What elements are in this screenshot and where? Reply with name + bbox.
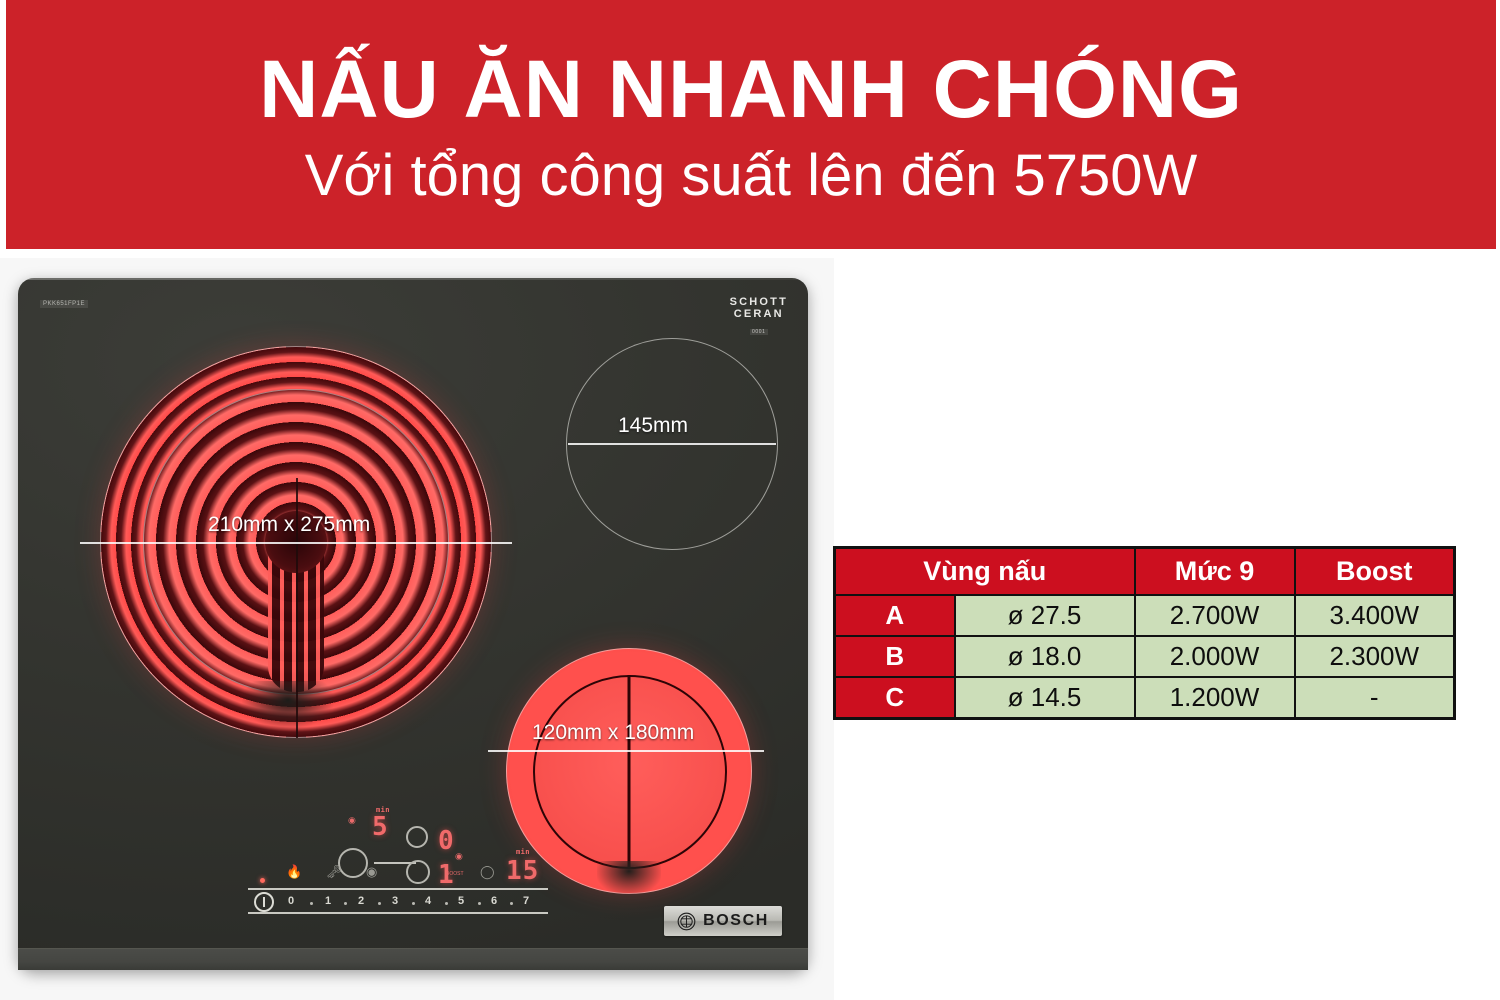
slider-value-7[interactable]: 7 bbox=[523, 895, 529, 907]
boost-indicator-icon: ◉ bbox=[455, 852, 463, 861]
slider-value-4[interactable]: 4 bbox=[425, 895, 431, 907]
slider-value-5[interactable]: 5 bbox=[458, 895, 464, 907]
slider-dot bbox=[412, 902, 415, 905]
row-c-level9: 1.200W bbox=[1135, 677, 1295, 719]
row-a-boost: 3.400W bbox=[1295, 595, 1455, 636]
power-led-icon bbox=[260, 878, 265, 883]
table-row: A ø 27.5 2.700W 3.400W bbox=[835, 595, 1455, 636]
zone-c-dimension-label: 145mm bbox=[618, 414, 688, 438]
slider-value-3[interactable]: 3 bbox=[392, 895, 398, 907]
table-header-row: Vùng nấu Mức 9 Boost bbox=[835, 548, 1455, 596]
header-boost: Boost bbox=[1295, 548, 1455, 596]
zone-a-dimension-line bbox=[80, 542, 512, 544]
model-label: PKK651FP1E bbox=[40, 300, 88, 308]
bosch-wordmark: BOSCH bbox=[703, 912, 769, 930]
zone-c-dimension-line bbox=[568, 443, 776, 445]
header-level9: Mức 9 bbox=[1135, 548, 1295, 596]
zone-b-dimension-line bbox=[488, 750, 764, 752]
slider-dot bbox=[310, 902, 313, 905]
zone-select-b-button[interactable] bbox=[406, 826, 428, 848]
slider-dot bbox=[445, 902, 448, 905]
schott-line2: CERAN bbox=[730, 308, 788, 320]
flame-icon[interactable]: 🔥 bbox=[286, 864, 302, 880]
control-panel[interactable]: min 5 ◉ 0 1 ◉ BOOST 🔥 🗝 ◉ ◯ min 15 bbox=[248, 804, 548, 914]
cooktop-surface: PKK651FP1E SCHOTT CERAN 0001 210mm x 275… bbox=[18, 278, 808, 970]
timer-value: 15 bbox=[506, 856, 539, 886]
row-a-zone: A bbox=[835, 595, 955, 636]
row-b-zone: B bbox=[835, 636, 955, 677]
slider-dot bbox=[510, 902, 513, 905]
promo-banner: NẤU ĂN NHANH CHÓNG Với tổng công suất lê… bbox=[6, 0, 1496, 249]
row-b-diameter: ø 18.0 bbox=[955, 636, 1135, 677]
slider-value-6[interactable]: 6 bbox=[491, 895, 497, 907]
boost-label: BOOST bbox=[446, 870, 464, 879]
table-row: C ø 14.5 1.200W - bbox=[835, 677, 1455, 719]
clock-icon[interactable]: ◯ bbox=[480, 864, 495, 880]
product-photo: PKK651FP1E SCHOTT CERAN 0001 210mm x 275… bbox=[0, 258, 834, 1000]
pan-icon[interactable]: ◉ bbox=[366, 864, 377, 880]
cooktop-front-edge bbox=[18, 948, 808, 970]
row-b-level9: 2.000W bbox=[1135, 636, 1295, 677]
page-root: NẤU ĂN NHANH CHÓNG Với tổng công suất lê… bbox=[0, 0, 1500, 1000]
banner-subheadline: Với tổng công suất lên đến 5750W bbox=[305, 146, 1198, 207]
row-c-zone: C bbox=[835, 677, 955, 719]
display-left-value: 5 bbox=[372, 812, 389, 842]
row-a-diameter: ø 27.5 bbox=[955, 595, 1135, 636]
slider-value-2[interactable]: 2 bbox=[358, 895, 364, 907]
slider-value-0[interactable]: 0 bbox=[288, 895, 294, 907]
display-mid-value: 0 bbox=[438, 826, 455, 856]
zone-a-boost-icon: ◉ bbox=[348, 816, 356, 825]
zone-select-c-button[interactable] bbox=[406, 860, 430, 884]
power-level-slider[interactable]: 0 1 2 3 4 5 6 7 bbox=[248, 888, 548, 914]
header-zone: Vùng nấu bbox=[835, 548, 1135, 596]
row-c-boost: - bbox=[1295, 677, 1455, 719]
slider-value-1[interactable]: 1 bbox=[325, 895, 331, 907]
bosch-emblem-icon bbox=[677, 912, 696, 931]
banner-headline: NẤU ĂN NHANH CHÓNG bbox=[259, 48, 1243, 132]
power-spec-table: Vùng nấu Mức 9 Boost A ø 27.5 2.700W 3.4… bbox=[833, 546, 1456, 720]
slider-dot bbox=[344, 902, 347, 905]
key-lock-icon[interactable]: 🗝 bbox=[326, 864, 343, 880]
table-row: B ø 18.0 2.000W 2.300W bbox=[835, 636, 1455, 677]
slider-dot bbox=[478, 902, 481, 905]
zone-a-shadow bbox=[242, 681, 334, 729]
row-c-diameter: ø 14.5 bbox=[955, 677, 1135, 719]
schott-ceran-logo: SCHOTT CERAN 0001 bbox=[730, 296, 788, 338]
power-button[interactable] bbox=[254, 892, 274, 912]
schott-line1: SCHOTT bbox=[730, 296, 788, 308]
bosch-badge: BOSCH bbox=[664, 906, 782, 936]
row-a-level9: 2.700W bbox=[1135, 595, 1295, 636]
zone-b-divider bbox=[628, 675, 631, 869]
timer-unit: min bbox=[516, 848, 530, 856]
row-b-boost: 2.300W bbox=[1295, 636, 1455, 677]
slider-dot bbox=[378, 902, 381, 905]
zone-b-dimension-label: 120mm x 180mm bbox=[532, 721, 694, 745]
zone-a-dimension-label: 210mm x 275mm bbox=[208, 513, 370, 537]
schott-note: 0001 bbox=[750, 329, 768, 335]
zone-b-shadow bbox=[597, 861, 661, 895]
